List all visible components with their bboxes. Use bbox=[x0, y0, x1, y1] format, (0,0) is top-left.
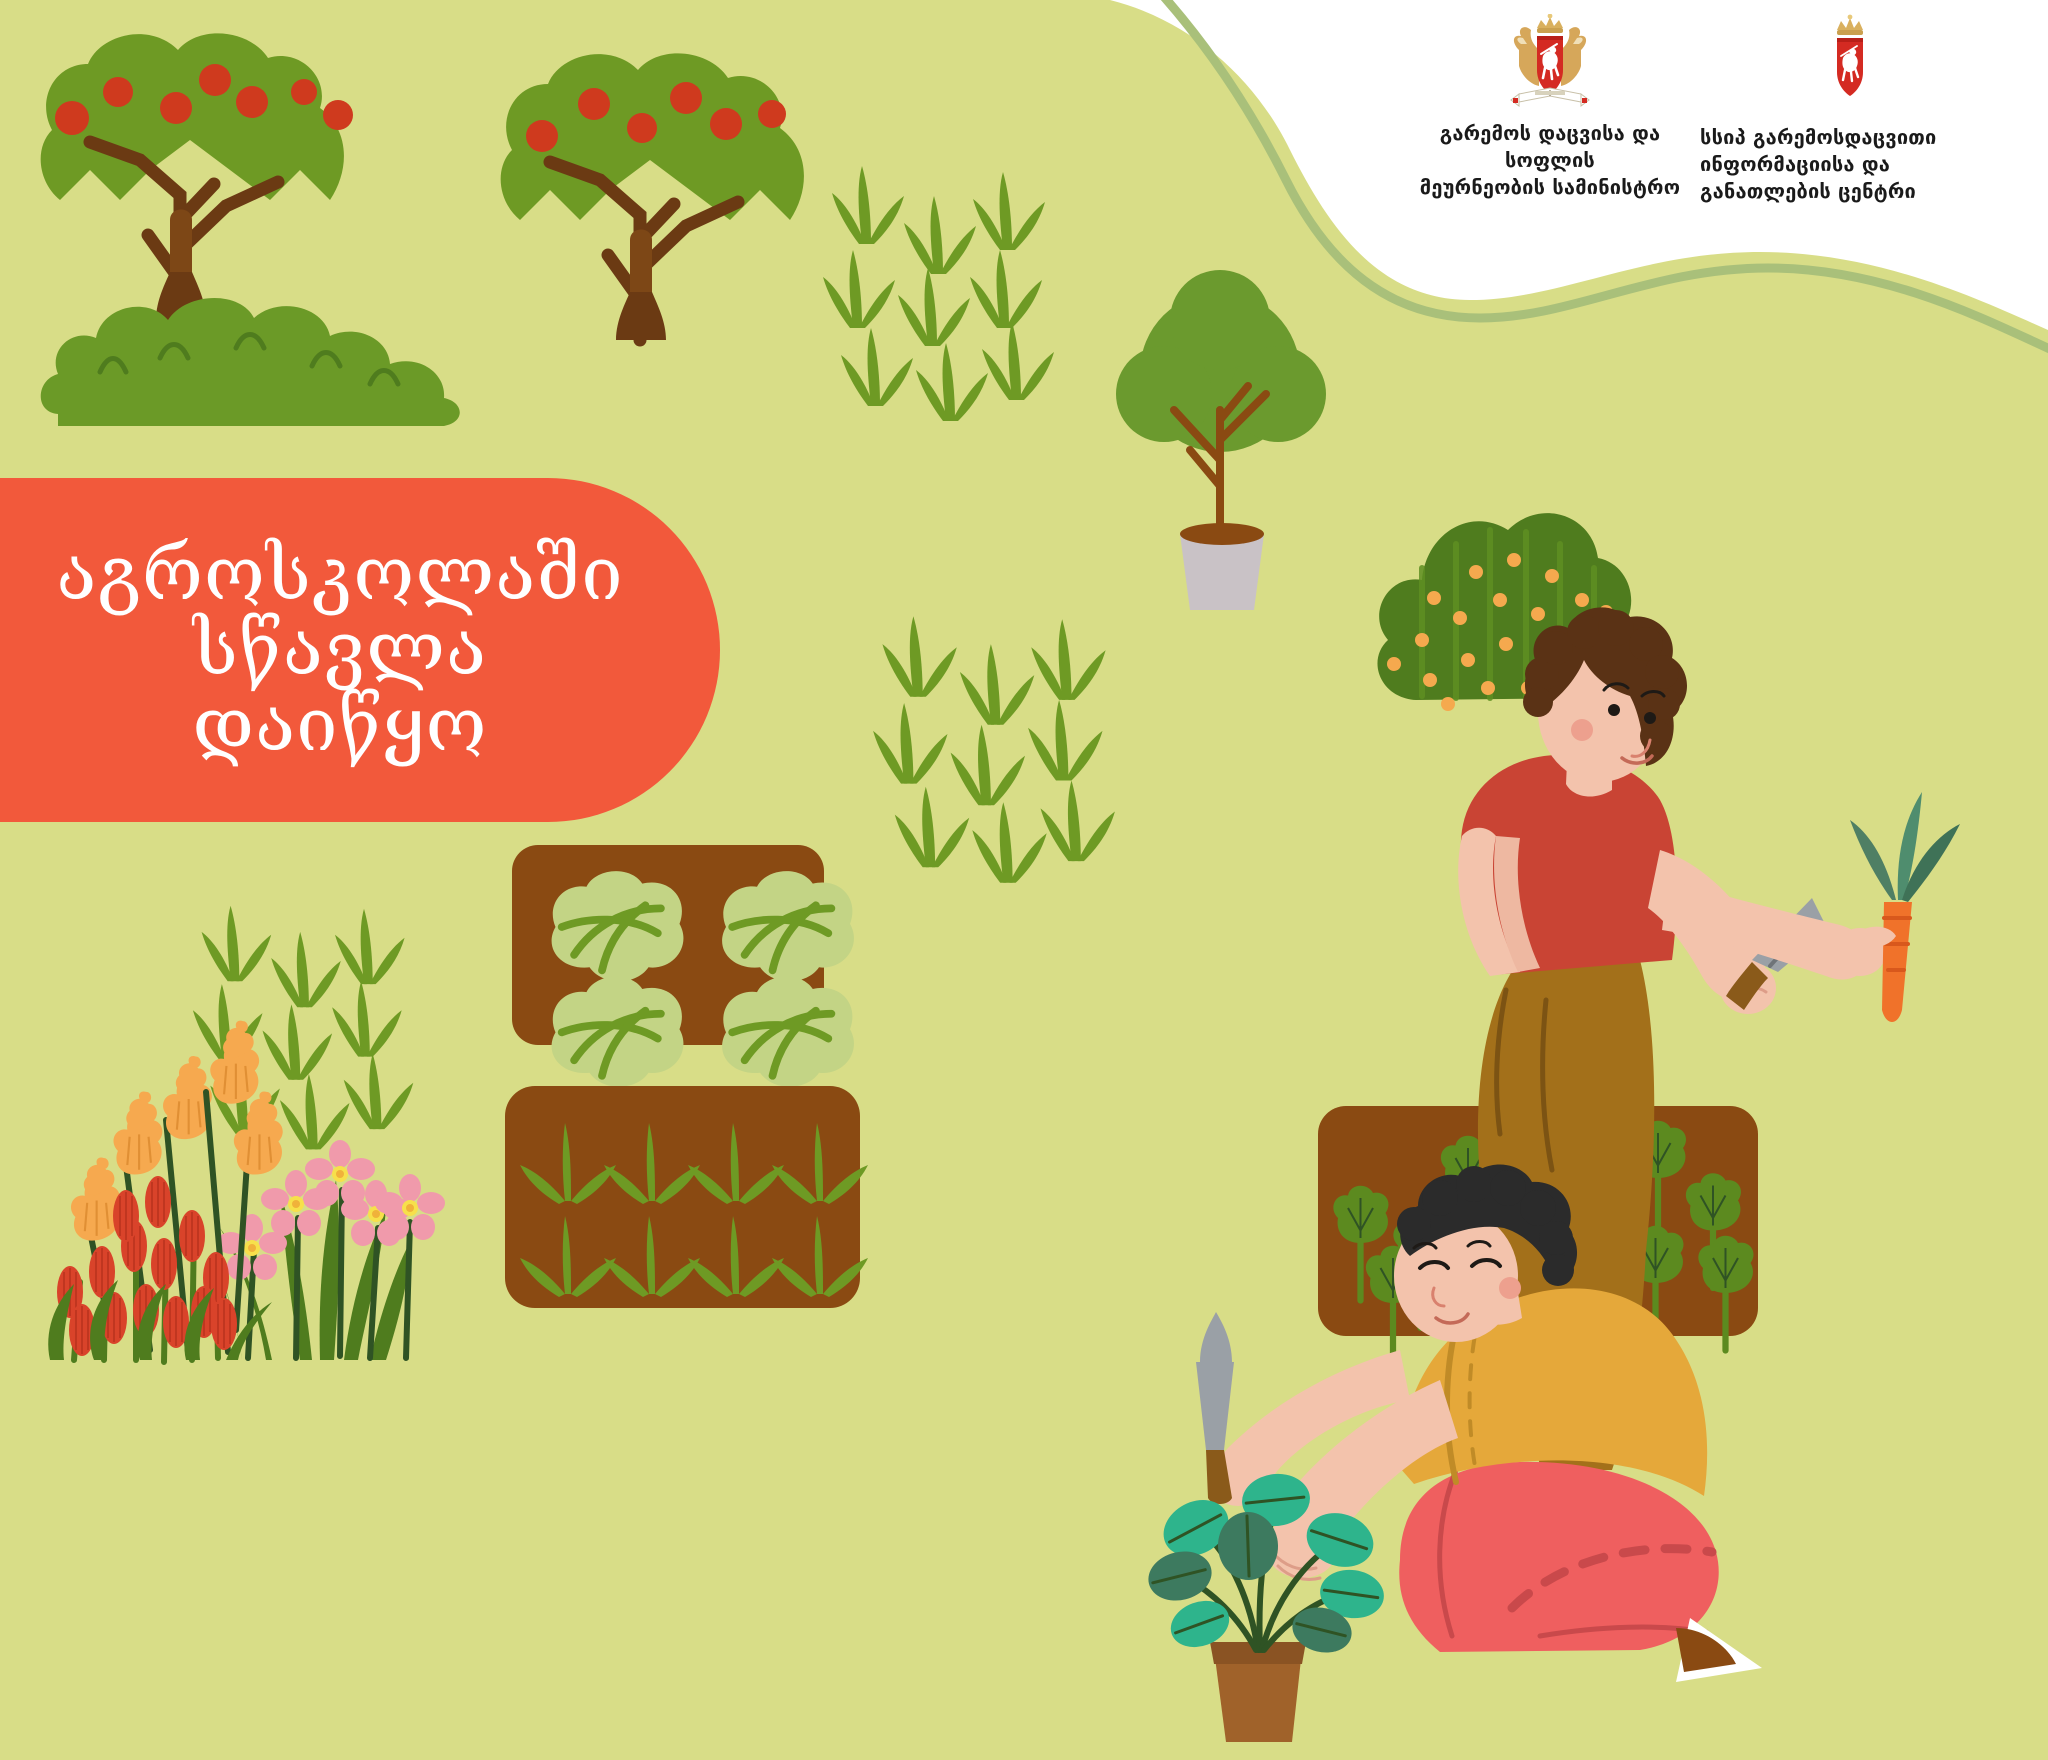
title-line-1: აგროსკოლაში bbox=[56, 537, 623, 612]
grass-patch-left bbox=[193, 906, 413, 1150]
scene-illustration bbox=[0, 0, 2048, 1760]
kneeling-gardener-cheek bbox=[1499, 1277, 1521, 1299]
standing-gardener-cheek bbox=[1571, 719, 1593, 741]
hedge-bush bbox=[41, 298, 460, 426]
title-banner: აგროსკოლაში სწავლა დაიწყო bbox=[0, 478, 720, 822]
grass-patch-mid bbox=[873, 616, 1115, 883]
carrot bbox=[1850, 792, 1960, 1022]
potted-tree bbox=[1116, 270, 1326, 610]
standing-gardener-eye-right bbox=[1644, 712, 1656, 724]
cabbage-bed bbox=[512, 845, 854, 1087]
apple-tree-left bbox=[41, 33, 353, 320]
carrot-leaf bbox=[1850, 820, 1896, 900]
standing-gardener-eye-left bbox=[1608, 704, 1620, 716]
title-line-2: სწავლა bbox=[193, 612, 487, 687]
apple-tree-mid bbox=[501, 53, 804, 340]
poster-canvas: გარემოს დაცვისა და სოფლის მეურნეობის სამ… bbox=[0, 0, 2048, 1760]
sprout-bed bbox=[505, 1086, 868, 1308]
flower-cluster bbox=[48, 1021, 445, 1362]
title-line-3: დაიწყო bbox=[192, 688, 487, 763]
grass-patch-top bbox=[823, 166, 1054, 421]
